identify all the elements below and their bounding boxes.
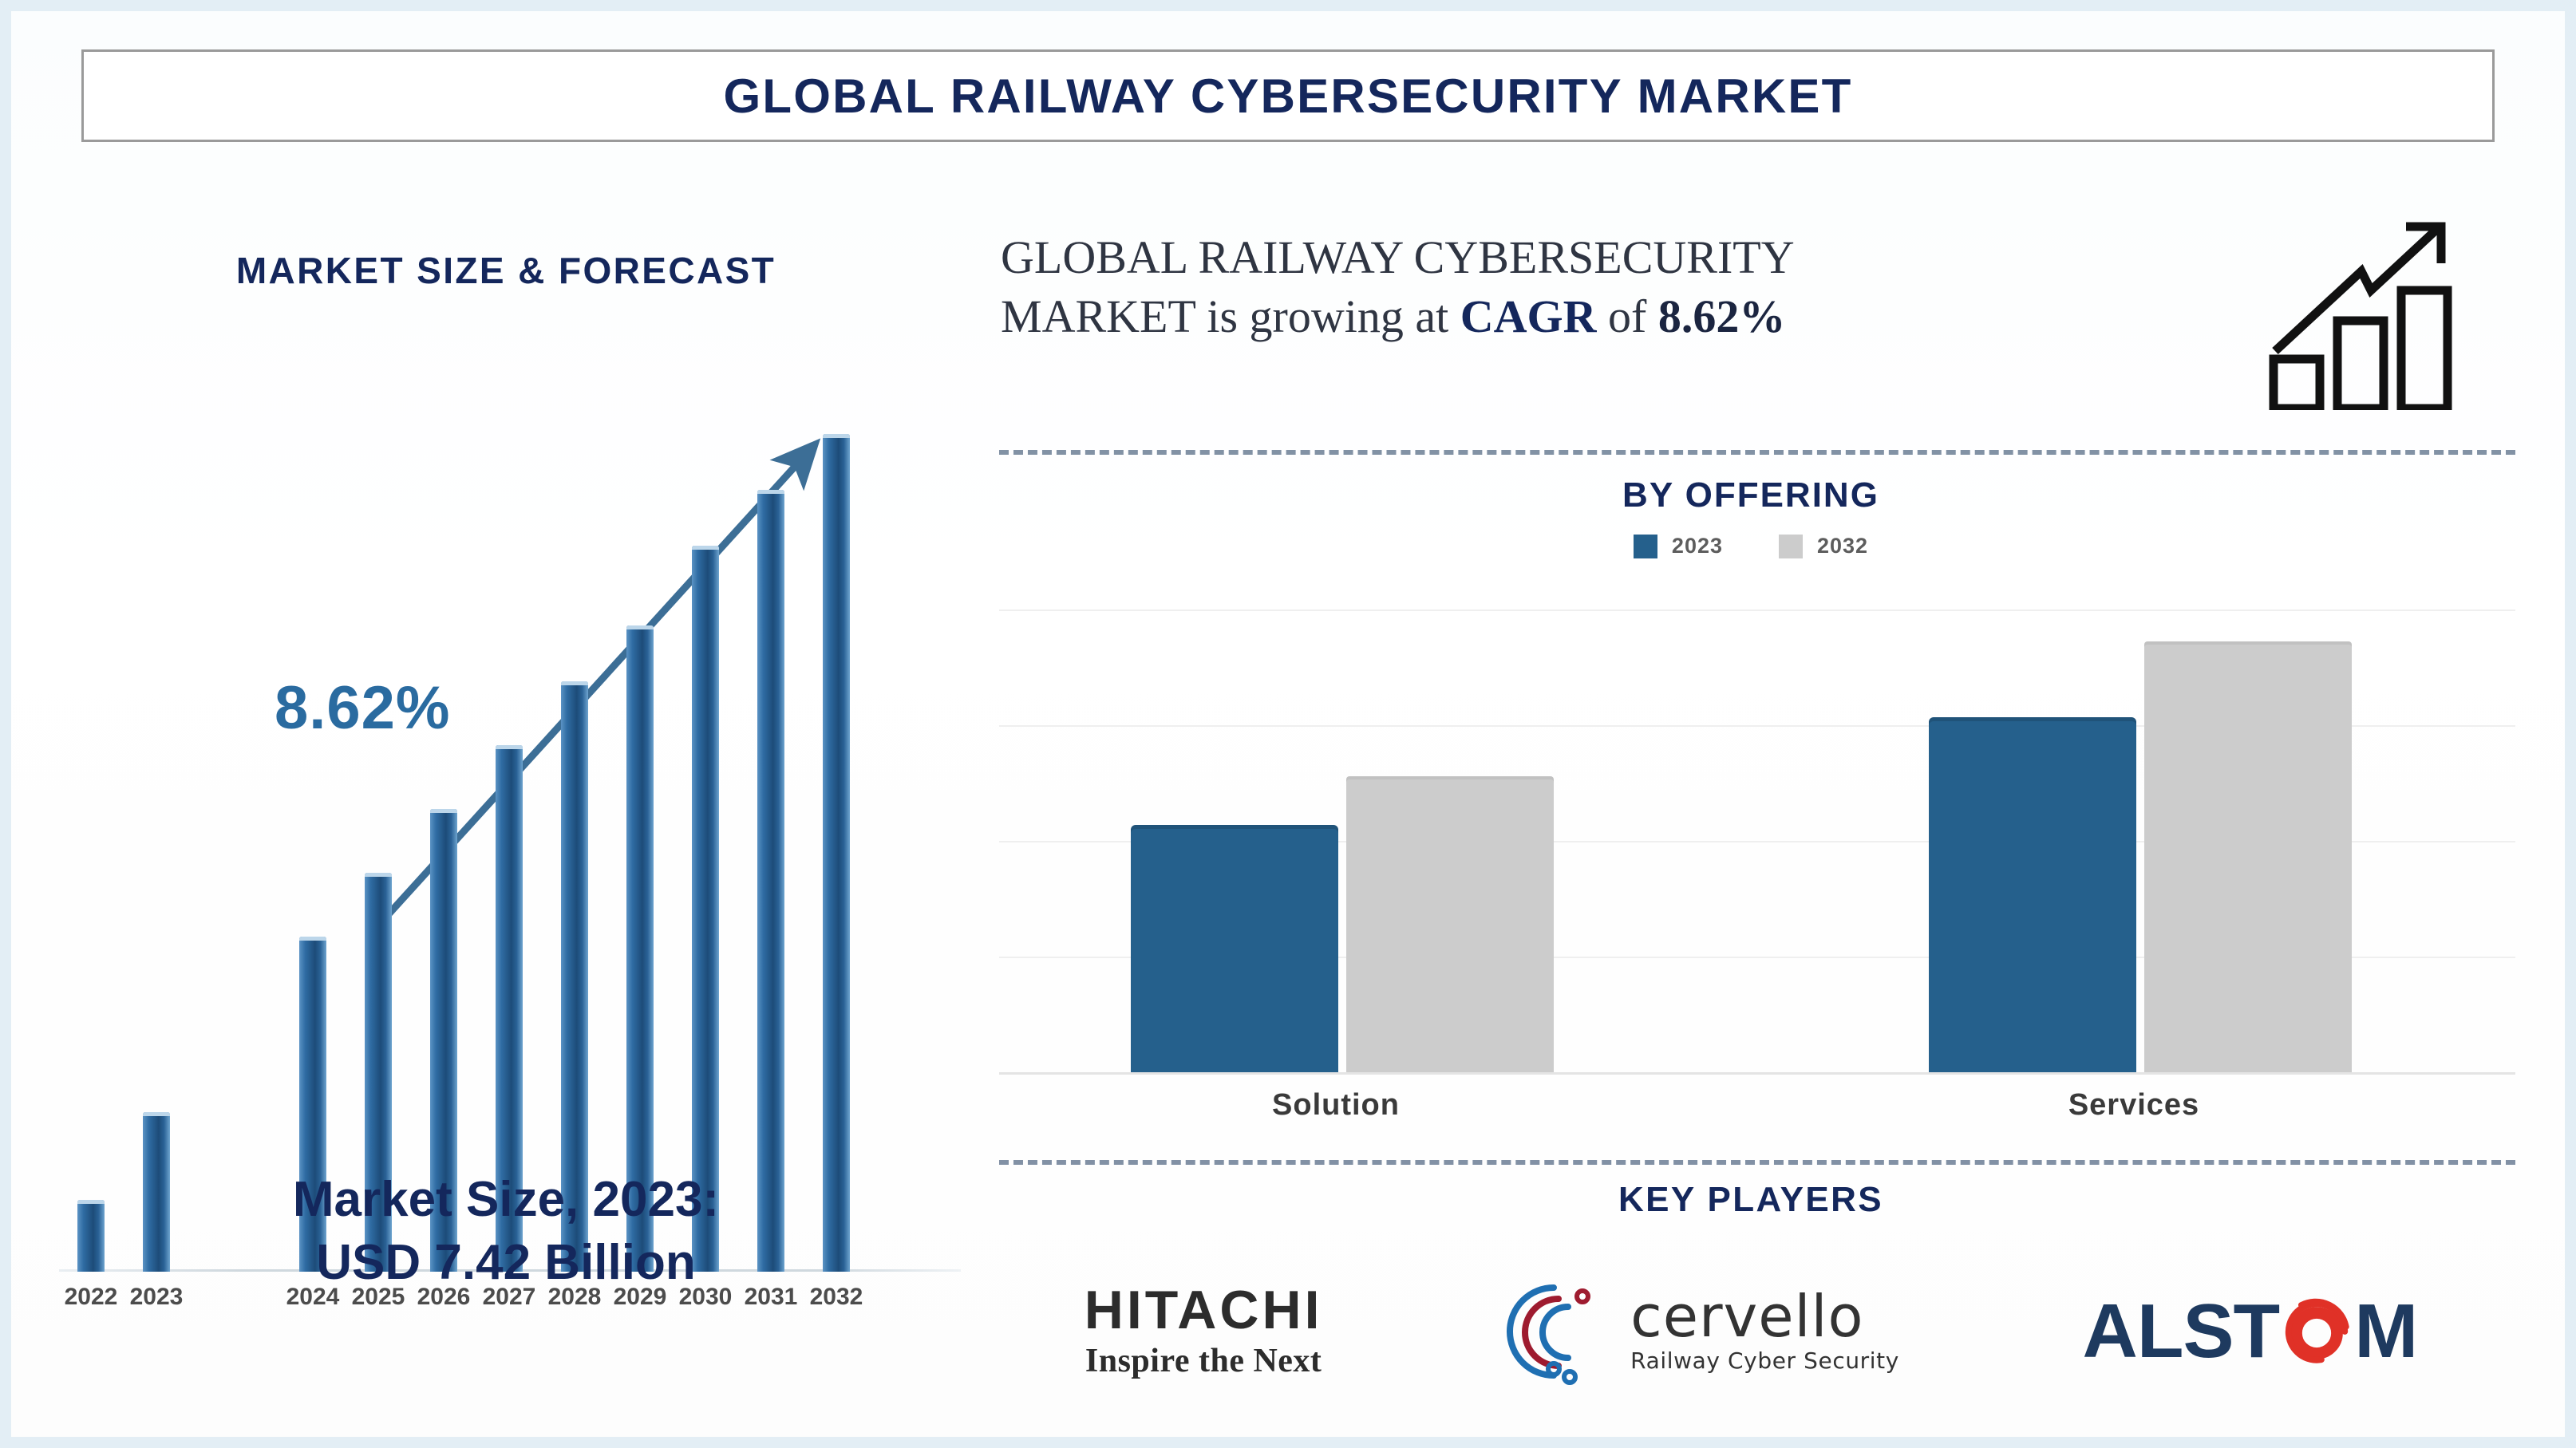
divider-bottom <box>999 1160 2515 1165</box>
cervello-arcs-icon <box>1506 1272 1626 1391</box>
legend-swatch-icon <box>1634 535 1657 558</box>
key-players-logos: HITACHI Inspire the Next cervello <box>993 1260 2509 1403</box>
offering-chart-baseline <box>999 1072 2515 1075</box>
offering-bar-services-2023 <box>1929 717 2136 1072</box>
offering-category-label: Solution <box>1272 1088 1400 1122</box>
cagr-statement-line1: GLOBAL RAILWAY CYBERSECURITY <box>1001 231 1795 283</box>
logo-hitachi-tagline: Inspire the Next <box>1085 1342 1322 1380</box>
page-title: GLOBAL RAILWAY CYBERSECURITY MARKET <box>724 69 1853 124</box>
cagr-statement: GLOBAL RAILWAY CYBERSECURITY MARKET is g… <box>1001 228 2086 346</box>
divider-top <box>999 450 2515 455</box>
offering-bar-services-2032 <box>2144 641 2352 1072</box>
cagr-keyword: CAGR <box>1460 290 1597 342</box>
forecast-bar <box>823 434 850 1272</box>
forecast-bar <box>692 546 719 1272</box>
cagr-statement-line2-mid: of <box>1596 290 1657 342</box>
offering-bar-solution-2023 <box>1131 825 1338 1072</box>
infographic-canvas: GLOBAL RAILWAY CYBERSECURITY MARKET MARK… <box>0 0 2576 1448</box>
market-size-value: Market Size, 2023: USD 7.42 Billion <box>35 1168 977 1295</box>
by-offering-chart <box>999 610 2515 1072</box>
logo-cervello[interactable]: cervello Railway Cyber Security <box>1506 1272 1899 1391</box>
market-size-panel: MARKET SIZE & FORECAST 8.62% 20222023202… <box>35 211 977 1423</box>
title-box: GLOBAL RAILWAY CYBERSECURITY MARKET <box>81 49 2495 142</box>
right-panel: GLOBAL RAILWAY CYBERSECURITY MARKET is g… <box>993 211 2557 1423</box>
logo-hitachi[interactable]: HITACHI Inspire the Next <box>1085 1283 1323 1380</box>
logo-hitachi-name: HITACHI <box>1085 1283 1323 1337</box>
logo-cervello-tagline: Railway Cyber Security <box>1630 1347 1899 1374</box>
growth-chart-icon <box>2250 203 2473 410</box>
logo-alstom-name: ALST M <box>2083 1292 2418 1371</box>
market-size-heading: MARKET SIZE & FORECAST <box>35 249 977 292</box>
alstom-o-swirl-icon <box>2278 1292 2356 1371</box>
legend-label: 2032 <box>1817 534 1868 558</box>
offering-bar-solution-2032 <box>1346 776 1554 1072</box>
cagr-statement-line2-pre: MARKET is growing at <box>1001 290 1460 342</box>
market-size-line-1: Market Size, 2023: <box>35 1168 977 1231</box>
legend-item-2023[interactable]: 2023 <box>1634 534 1723 558</box>
offering-chart-legend: 20232032 <box>993 534 2509 558</box>
cagr-value: 8.62% <box>1658 290 1786 342</box>
logo-alstom-text-alst: ALST <box>2083 1293 2280 1370</box>
cagr-callout-left: 8.62% <box>275 673 451 743</box>
market-size-line-2: USD 7.42 Billion <box>35 1231 977 1294</box>
offering-category-label: Services <box>2068 1088 2199 1122</box>
market-size-forecast-chart <box>59 410 961 1272</box>
legend-item-2032[interactable]: 2032 <box>1779 534 1868 558</box>
logo-cervello-name: cervello <box>1630 1289 1863 1343</box>
gridline <box>999 610 2515 611</box>
legend-swatch-icon <box>1779 535 1803 558</box>
forecast-bar <box>757 490 784 1272</box>
by-offering-title: BY OFFERING <box>993 475 2509 515</box>
logo-alstom-text-m: M <box>2354 1293 2417 1370</box>
logo-alstom[interactable]: ALST M <box>2083 1292 2418 1371</box>
key-players-title: KEY PLAYERS <box>993 1180 2509 1220</box>
legend-label: 2023 <box>1672 534 1723 558</box>
